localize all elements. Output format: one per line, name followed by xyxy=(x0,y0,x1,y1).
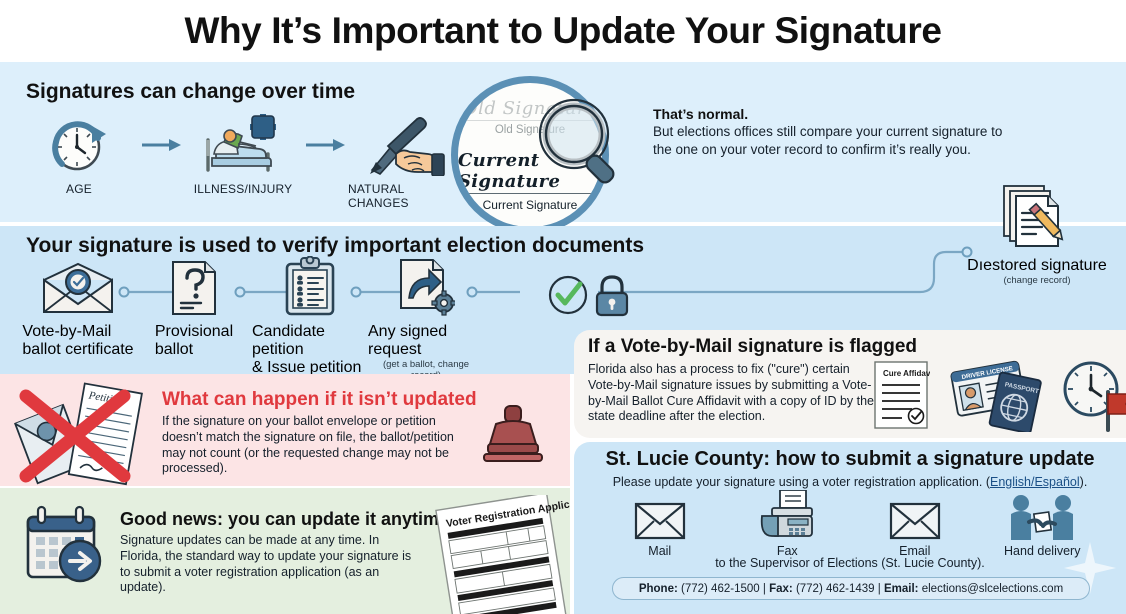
doc-caption-vote-by-mail: Vote-by-Mail ballot certificate xyxy=(22,323,133,359)
flow-arrow-2 xyxy=(302,114,348,176)
stored-signature-node: Dıestored signature (change record) xyxy=(953,182,1121,286)
warning-heading: What can happen if it isn’t updated xyxy=(162,389,477,411)
flow-step-natural: NATURAL CHANGES xyxy=(348,114,466,210)
stlucie-sub-before: Please update your signature using a vot… xyxy=(613,475,990,489)
doc-petition: Candidate petition & Issue petition xyxy=(252,264,368,377)
writing-hand-icon xyxy=(368,114,446,176)
flow-arrow-1 xyxy=(138,114,184,176)
id-documents-icon: DRIVER LICENSE PASSPORT xyxy=(946,358,1044,437)
separator-1: | xyxy=(763,583,766,595)
email-value[interactable]: elections@slcelections.com xyxy=(922,583,1063,595)
flagged-heading: If a Vote-by-Mail signature is flagged xyxy=(588,336,917,358)
phone-label: Phone: xyxy=(639,583,678,595)
fax-value[interactable]: (772) 462-1439 xyxy=(796,583,875,595)
fax-label: Fax: xyxy=(769,583,793,595)
stored-signature-label: Dıestored signature xyxy=(967,257,1107,275)
method-mail: Mail xyxy=(605,496,715,558)
flow-step-age: AGE xyxy=(20,114,138,196)
email-envelope-icon xyxy=(889,496,941,540)
envelope-seal-icon xyxy=(40,264,116,316)
method-hand-delivery: Hand delivery xyxy=(987,496,1097,558)
method-email: Email xyxy=(860,496,970,558)
affidavit-title: Cure Affidavit xyxy=(883,369,930,378)
flow-step-illness: ILLNESS/INJURY xyxy=(184,114,302,196)
magnifying-glass-icon xyxy=(534,96,630,197)
stlucie-heading: St. Lucie County: how to submit a signat… xyxy=(574,448,1126,471)
clock-red-flag-icon xyxy=(1060,358,1126,437)
goodnews-heading: Good news: you can update it anytime xyxy=(120,509,449,530)
mail-envelope-icon xyxy=(634,496,686,540)
phone-value[interactable]: (772) 462-1500 xyxy=(681,583,760,595)
verify-documents-flow: Vote-by-Mail ballot certificate Pro xyxy=(20,264,484,381)
document-gear-arrow-icon xyxy=(397,264,455,316)
email-label: Email: xyxy=(884,583,919,595)
submission-methods: Mail xyxy=(596,496,1106,558)
separator-2: | xyxy=(878,583,881,595)
goodnews-body: Signature updates can be made at any tim… xyxy=(120,533,420,596)
green-check-icon xyxy=(546,273,590,322)
contact-bar[interactable]: Phone: (772) 462-1500 | Fax: (772) 462-1… xyxy=(612,577,1090,600)
current-signature-label: Current Signature xyxy=(483,198,578,212)
flow-label-illness: ILLNESS/INJURY xyxy=(194,182,293,196)
hospital-bed-icon xyxy=(200,114,286,176)
page-title: Why It’s Important to Update Your Signat… xyxy=(184,10,941,52)
flow-label-age: AGE xyxy=(66,182,92,196)
flagged-body: Florida also has a process to fix ("cure… xyxy=(588,362,878,425)
verified-secure-icons xyxy=(546,272,632,323)
note-body: But elections offices still compare your… xyxy=(653,123,1013,159)
hand-delivery-icon xyxy=(1007,496,1077,540)
voter-registration-form-image: Voter Registration Application xyxy=(430,495,570,614)
doc-provisional: Provisional ballot xyxy=(136,264,252,359)
stlucie-subheading: Please update your signature using a vot… xyxy=(574,475,1126,489)
page-title-bar: Why It’s Important to Update Your Signat… xyxy=(0,0,1126,62)
clipboard-people-icon xyxy=(281,264,339,316)
lock-icon xyxy=(592,272,632,323)
cure-affidavit-icon: Cure Affidavit xyxy=(872,359,930,436)
flow-label-natural: NATURAL CHANGES xyxy=(348,182,466,210)
doc-caption-signed-request: Any signed request (get a ballot, change… xyxy=(368,323,484,381)
red-x-rejected-ballot-icon: Petition xyxy=(12,380,152,491)
warning-body: If the signature on your ballot envelope… xyxy=(162,414,472,477)
doc-caption-petition: Candidate petition & Issue petition xyxy=(252,323,368,377)
flagged-icon-group: Cure Affidavit DRIVER LICENSE xyxy=(872,358,1126,437)
deliver-to-text: to the Supervisor of Elections (St. Luci… xyxy=(574,556,1126,570)
doc-caption-provisional: Provisional ballot xyxy=(155,323,233,359)
application-language-link[interactable]: English/Español xyxy=(990,475,1080,489)
doc-vote-by-mail: Vote-by-Mail ballot certificate xyxy=(20,264,136,359)
rubber-stamp-icon xyxy=(478,404,548,471)
clock-age-icon xyxy=(48,114,110,176)
calendar-arrow-icon xyxy=(18,505,110,590)
thats-normal-note: That’s normal. But elections offices sti… xyxy=(653,106,1013,159)
note-lead: That’s normal. xyxy=(653,106,1013,122)
section-heading-change: Signatures can change over time xyxy=(26,80,355,104)
fax-machine-icon xyxy=(758,496,816,540)
method-fax: Fax xyxy=(732,496,842,558)
stored-signature-sub: (change record) xyxy=(1003,275,1070,286)
infographic-root: Why It’s Important to Update Your Signat… xyxy=(0,0,1126,614)
documents-pencil-icon xyxy=(998,182,1076,253)
doc-signed-request: Any signed request (get a ballot, change… xyxy=(368,264,484,381)
stlucie-sub-after: ). xyxy=(1080,475,1088,489)
question-document-icon xyxy=(167,264,221,316)
